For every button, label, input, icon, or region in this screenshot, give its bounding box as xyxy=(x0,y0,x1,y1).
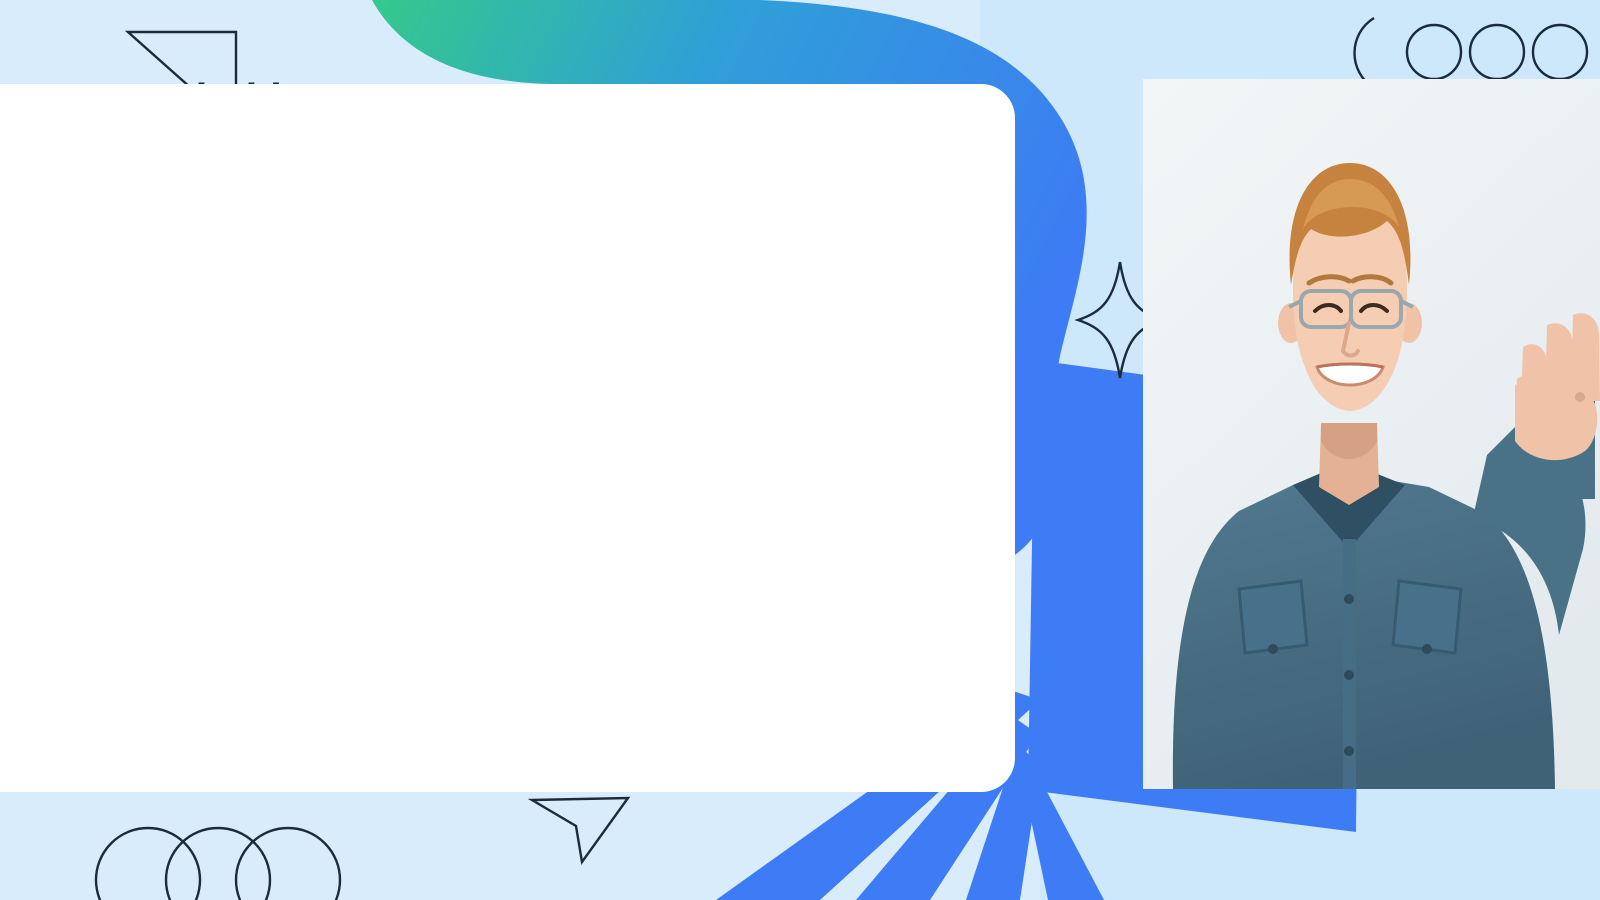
speaker-photo xyxy=(1143,79,1600,789)
speaker-portrait-illustration xyxy=(1143,79,1600,789)
slide-stage: android dev summit Top 3 picks: Form Fac… xyxy=(0,0,1600,900)
content-card xyxy=(0,84,1015,792)
